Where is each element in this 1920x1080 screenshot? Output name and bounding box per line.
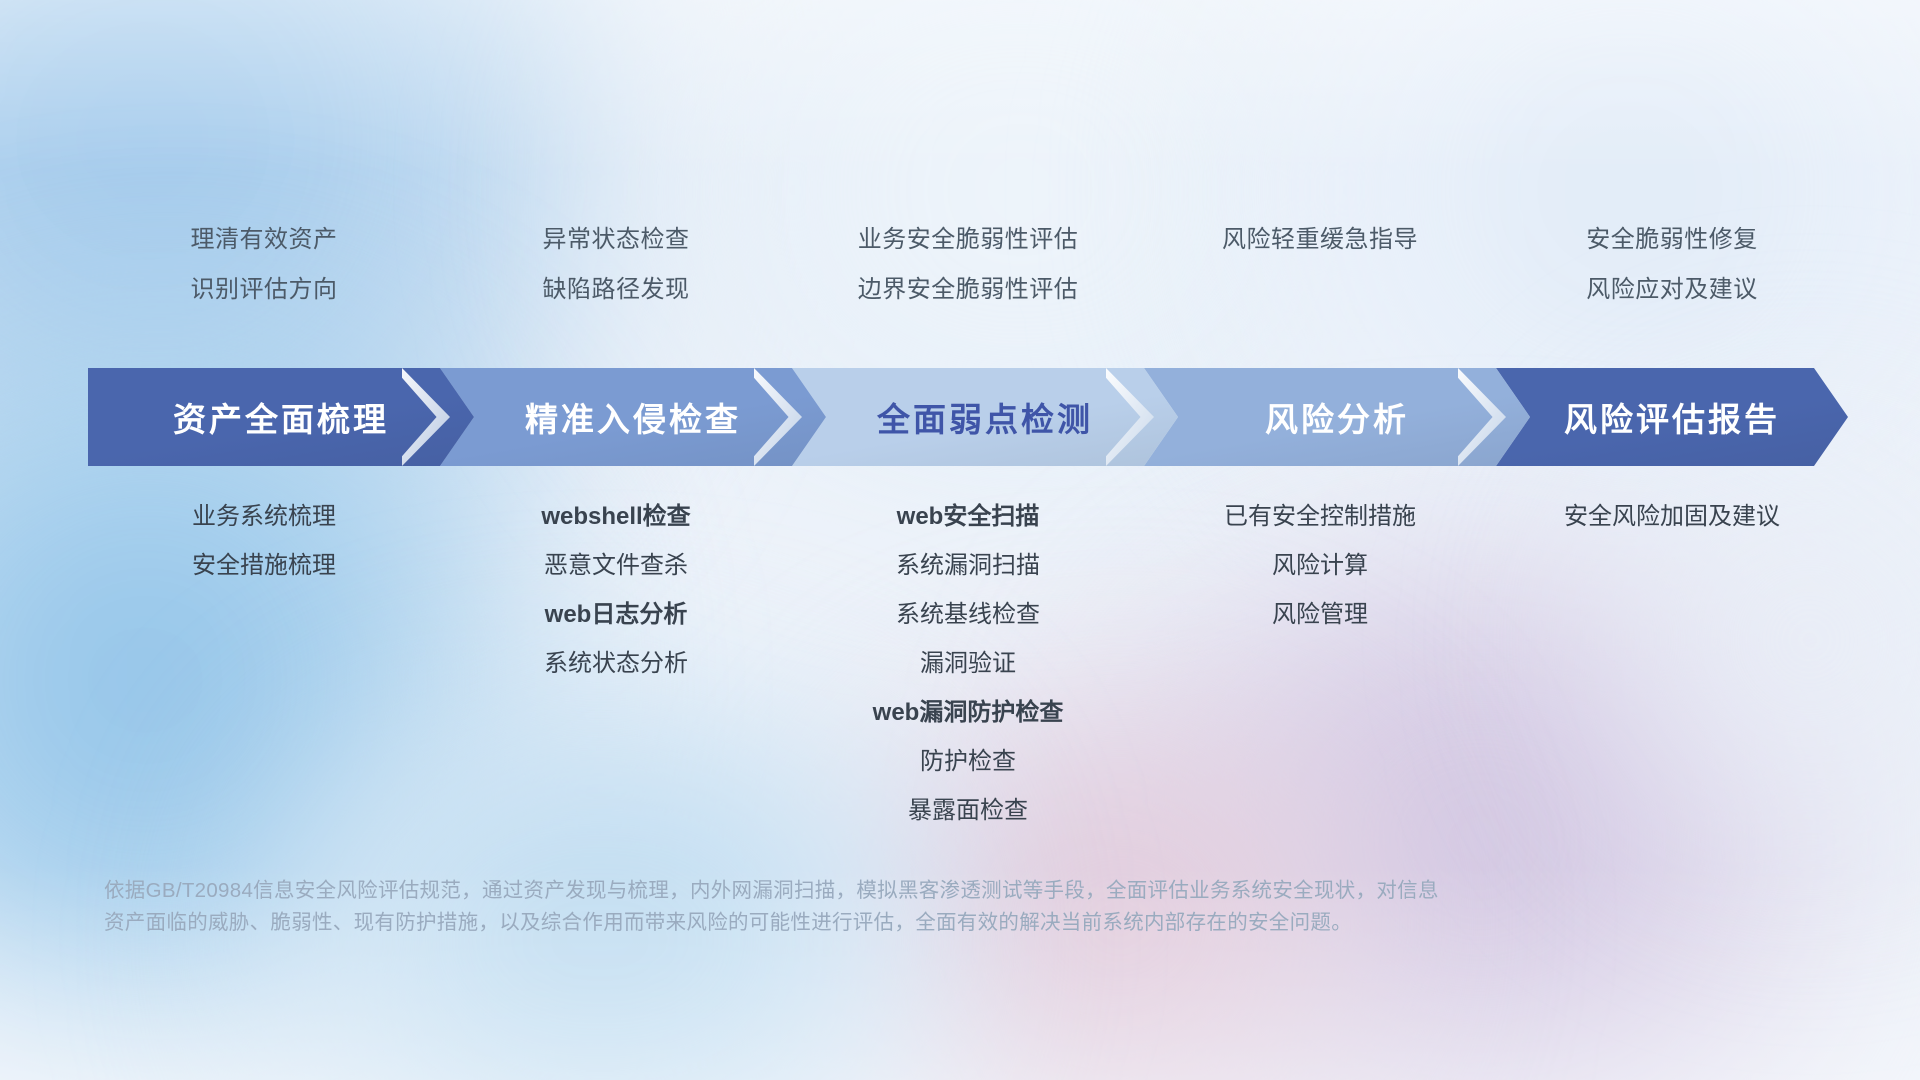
- list-item: 风险计算: [1144, 554, 1496, 578]
- list-item: web日志分析: [440, 603, 792, 627]
- chevron-label: 风险评估报告: [1564, 393, 1780, 441]
- list-item: web安全扫描: [792, 505, 1144, 529]
- top-note: 理清有效资产: [88, 228, 440, 252]
- top-note: 缺陷路径发现: [440, 278, 792, 302]
- list-item: 漏洞验证: [792, 652, 1144, 676]
- chevron-label: 精准入侵检查: [525, 393, 741, 441]
- top-note: 识别评估方向: [88, 278, 440, 302]
- list-item: 安全措施梳理: [88, 554, 440, 578]
- top-note-col-intrusion-check: 异常状态检查缺陷路径发现: [440, 228, 792, 302]
- list-col-weakness-detection: web安全扫描系统漏洞扫描系统基线检查漏洞验证web漏洞防护检查防护检查暴露面检…: [792, 505, 1144, 823]
- footer-line-2: 资产面临的威胁、脆弱性、现有防护措施，以及综合作用而带来风险的可能性进行评估，全…: [104, 907, 1624, 939]
- top-note: 异常状态检查: [440, 228, 792, 252]
- list-col-assessment-report: 安全风险加固及建议: [1496, 505, 1848, 823]
- chevron-label: 风险分析: [1265, 393, 1409, 441]
- footer-description: 依据GB/T20984信息安全风险评估规范，通过资产发现与梳理，内外网漏洞扫描，…: [104, 875, 1624, 939]
- chevron-label: 全面弱点检测: [877, 393, 1093, 441]
- list-item: webshell检查: [440, 505, 792, 529]
- list-item: 风险管理: [1144, 603, 1496, 627]
- top-note: 业务安全脆弱性评估: [792, 228, 1144, 252]
- list-col-intrusion-check: webshell检查恶意文件查杀web日志分析系统状态分析: [440, 505, 792, 823]
- list-item: 已有安全控制措施: [1144, 505, 1496, 529]
- list-item: 业务系统梳理: [88, 505, 440, 529]
- top-note-col-asset-inventory: 理清有效资产识别评估方向: [88, 228, 440, 302]
- top-note-col-risk-analysis: 风险轻重缓急指导: [1144, 228, 1496, 252]
- list-item: web漏洞防护检查: [792, 701, 1144, 725]
- top-note: 风险应对及建议: [1496, 278, 1848, 302]
- footer-line-1: 依据GB/T20984信息安全风险评估规范，通过资产发现与梳理，内外网漏洞扫描，…: [104, 875, 1624, 907]
- list-col-risk-analysis: 已有安全控制措施风险计算风险管理: [1144, 505, 1496, 823]
- top-note-col-weakness-detection: 业务安全脆弱性评估边界安全脆弱性评估: [792, 228, 1144, 302]
- chevron-band: 资产全面梳理精准入侵检查全面弱点检测风险分析风险评估报告: [88, 368, 1848, 466]
- top-notes-row: 理清有效资产识别评估方向异常状态检查缺陷路径发现业务安全脆弱性评估边界安全脆弱性…: [88, 228, 1848, 302]
- list-item: 暴露面检查: [792, 799, 1144, 823]
- process-infographic: 理清有效资产识别评估方向异常状态检查缺陷路径发现业务安全脆弱性评估边界安全脆弱性…: [0, 0, 1920, 1080]
- top-note: 安全脆弱性修复: [1496, 228, 1848, 252]
- list-item: 系统漏洞扫描: [792, 554, 1144, 578]
- list-item: 恶意文件查杀: [440, 554, 792, 578]
- top-note-col-assessment-report: 安全脆弱性修复风险应对及建议: [1496, 228, 1848, 302]
- chevron-stage-assessment-report[interactable]: 风险评估报告: [1496, 368, 1848, 466]
- list-item: 防护检查: [792, 750, 1144, 774]
- chevron-label: 资产全面梳理: [173, 393, 389, 441]
- list-item: 系统基线检查: [792, 603, 1144, 627]
- bottom-items-row: 业务系统梳理安全措施梳理webshell检查恶意文件查杀web日志分析系统状态分…: [88, 505, 1848, 823]
- list-item: 系统状态分析: [440, 652, 792, 676]
- top-note: 风险轻重缓急指导: [1144, 228, 1496, 252]
- list-col-asset-inventory: 业务系统梳理安全措施梳理: [88, 505, 440, 823]
- list-item: 安全风险加固及建议: [1496, 505, 1848, 529]
- top-note: 边界安全脆弱性评估: [792, 278, 1144, 302]
